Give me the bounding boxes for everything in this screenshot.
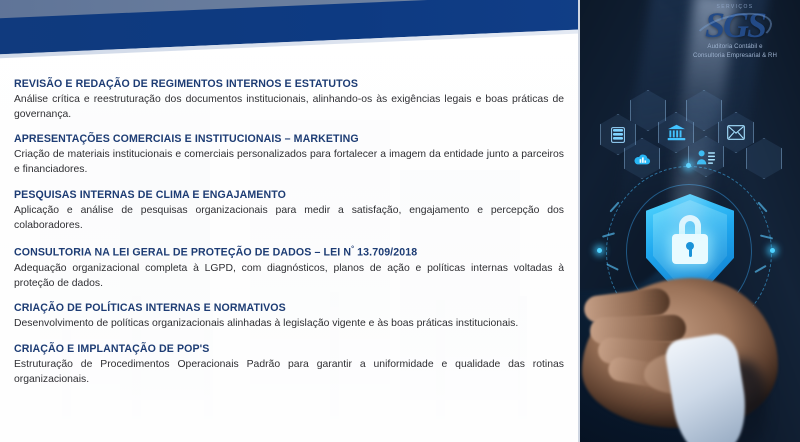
- hero-photo-panel: SERVIÇOS SGS Auditoria Contábil e Consul…: [578, 0, 800, 442]
- ring-node-left: [597, 248, 602, 253]
- service-description: Aplicação e análise de pesquisas organiz…: [14, 204, 564, 234]
- service-item: CRIAÇÃO DE POLÍTICAS INTERNAS E NORMATIV…: [14, 302, 564, 332]
- service-title-suffix: 13.709/2018: [354, 247, 417, 259]
- panel-divider: [578, 0, 580, 442]
- services-list: REVISÃO E REDAÇÃO DE REGIMENTOS INTERNOS…: [0, 68, 578, 442]
- logo-top-text: SERVIÇOS: [677, 4, 793, 10]
- slide-canvas: REVISÃO E REDAÇÃO DE REGIMENTOS INTERNOS…: [0, 0, 800, 442]
- padlock-keyhole-stem: [689, 248, 692, 257]
- service-title: PESQUISAS INTERNAS DE CLIMA E ENGAJAMENT…: [14, 189, 564, 203]
- ring-node-right: [770, 248, 775, 253]
- service-title: APRESENTAÇÕES COMERCIAIS E INSTITUCIONAI…: [14, 133, 564, 147]
- service-description: Adequação organizacional completa à LGPD…: [14, 262, 564, 292]
- service-title-prefix: CONSULTORIA NA LEI GERAL DE PROTEÇÃO DE …: [14, 247, 351, 259]
- service-item: PESQUISAS INTERNAS DE CLIMA E ENGAJAMENT…: [14, 189, 564, 234]
- service-title: REVISÃO E REDAÇÃO DE REGIMENTOS INTERNOS…: [14, 78, 564, 92]
- service-description: Desenvolvimento de políticas organizacio…: [14, 317, 564, 332]
- service-item: CONSULTORIA NA LEI GERAL DE PROTEÇÃO DE …: [14, 244, 564, 291]
- service-description: Análise crítica e reestruturação dos doc…: [14, 93, 564, 123]
- service-title: CONSULTORIA NA LEI GERAL DE PROTEÇÃO DE …: [14, 244, 564, 261]
- service-item: REVISÃO E REDAÇÃO DE REGIMENTOS INTERNOS…: [14, 78, 564, 123]
- service-title: CRIAÇÃO E IMPLANTAÇÃO DE POP'S: [14, 343, 564, 357]
- service-title: CRIAÇÃO DE POLÍTICAS INTERNAS E NORMATIV…: [14, 302, 564, 316]
- logo-tagline-line-2: Consultoria Empresarial & RH: [677, 52, 793, 60]
- service-item: CRIAÇÃO E IMPLANTAÇÃO DE POP'S Estrutura…: [14, 343, 564, 388]
- sgs-logo: SERVIÇOS SGS Auditoria Contábil e Consul…: [677, 4, 793, 66]
- service-description: Criação de materiais institucionais e co…: [14, 148, 564, 178]
- service-item: APRESENTAÇÕES COMERCIAIS E INSTITUCIONAI…: [14, 133, 564, 178]
- service-description: Estruturação de Procedimentos Operaciona…: [14, 358, 564, 388]
